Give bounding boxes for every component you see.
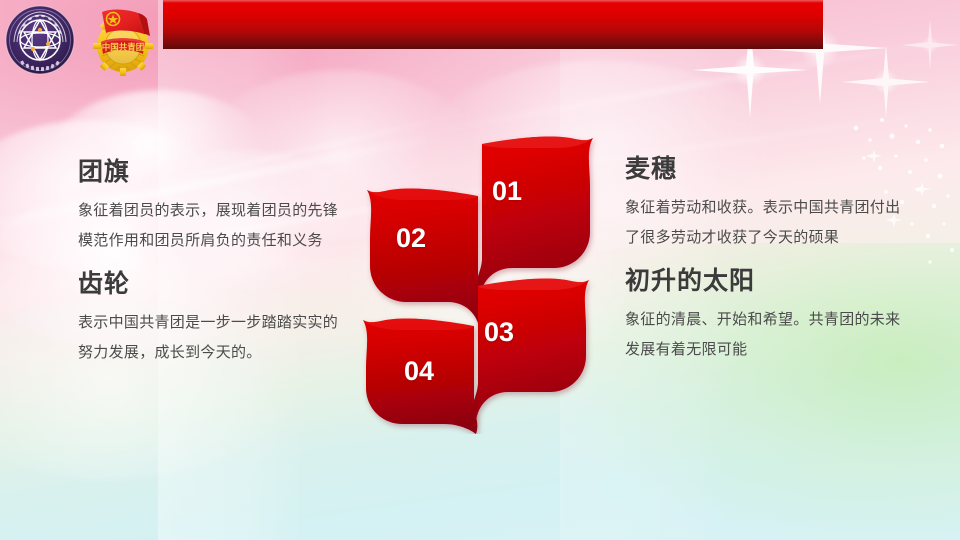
emblem-band-text: 中国共青团	[102, 42, 145, 53]
block-body-chilun: 表示中国共青团是一步一步踏踏实实的努力发展，成长到今天的。	[78, 308, 350, 368]
leaf-number-01: 01	[492, 176, 522, 207]
block-title-taiyang: 初升的太阳	[625, 267, 903, 296]
leaf-number-labels: 01 02 03 04	[362, 134, 598, 434]
leaf-number-04: 04	[404, 356, 434, 387]
right-text-column: 麦穗 象征着劳动和收获。表示中国共青团付出了很多劳动才收获了今天的硕果 初升的太…	[625, 155, 903, 365]
slide-canvas: 中国共青团	[0, 0, 960, 540]
block-title-tuanqi: 团旗	[78, 158, 350, 187]
block-title-chilun: 齿轮	[78, 270, 350, 299]
leaf-number-02: 02	[396, 223, 426, 254]
communist-youth-league-emblem-icon: 中国共青团	[88, 4, 158, 76]
block-body-tuanqi: 象征着团员的表示，展现着团员的先锋模范作用和团员所肩负的责任和义务	[78, 196, 350, 256]
block-body-taiyang: 象征的清晨、开始和希望。共青团的未来发展有着无限可能	[625, 305, 903, 365]
title-banner	[163, 0, 823, 49]
university-emblem-icon	[4, 4, 76, 76]
banner-highlight	[163, 0, 823, 3]
block-body-maisui: 象征着劳动和收获。表示中国共青团付出了很多劳动才收获了今天的硕果	[625, 193, 903, 253]
left-text-column: 团旗 象征着团员的表示，展现着团员的先锋模范作用和团员所肩负的责任和义务 齿轮 …	[78, 158, 350, 368]
block-title-maisui: 麦穗	[625, 155, 903, 184]
leaf-number-03: 03	[484, 317, 514, 348]
